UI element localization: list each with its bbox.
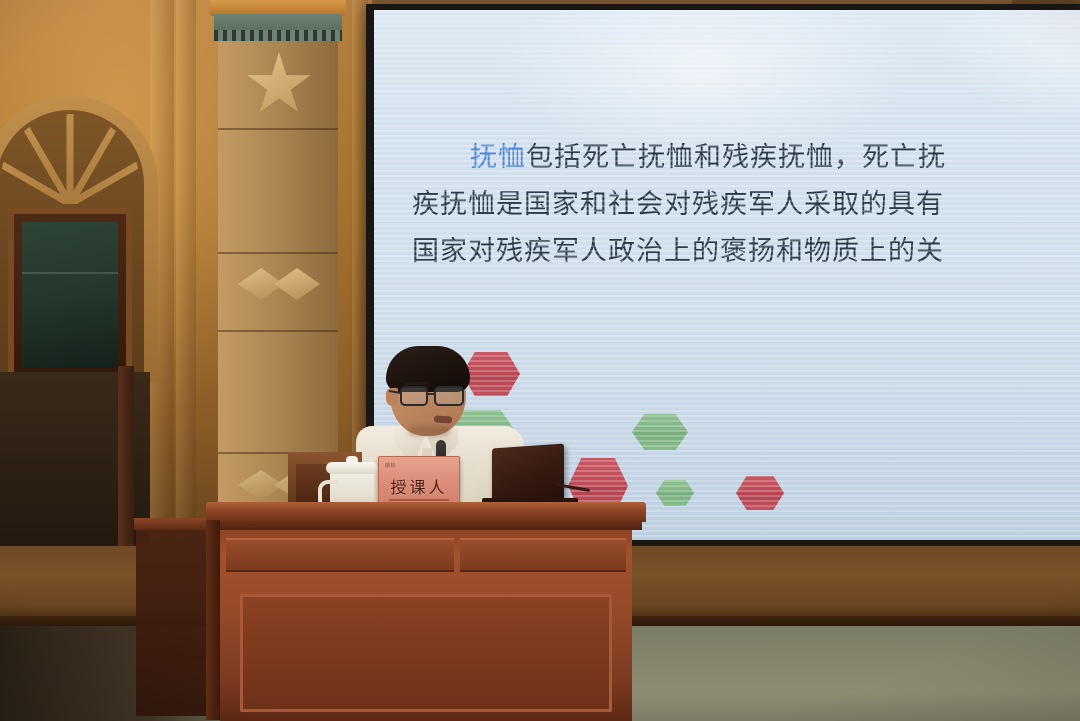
column-dentils	[214, 30, 342, 41]
podium-top	[206, 502, 646, 522]
projector-hotspot	[934, 10, 1080, 130]
podium-side-table	[136, 526, 212, 716]
hexagon-decoration-green	[632, 414, 688, 450]
slide-line-3: 国家对残疾军人政治上的褒扬和物质上的关	[412, 228, 1080, 275]
lens-left	[400, 386, 428, 406]
glasses-bridge	[427, 393, 435, 395]
mouth	[434, 415, 452, 423]
podium-lip	[210, 521, 642, 530]
diamond-ornament-icon	[238, 268, 322, 302]
podium	[206, 502, 646, 721]
slide-highlight-term: 抚恤	[470, 142, 526, 173]
drawer-left	[226, 538, 454, 572]
slide-line-1: 包括死亡抚恤和残疾抚恤，死亡抚	[526, 142, 946, 173]
door-glass	[22, 222, 118, 368]
nameplate-logo: 徽标	[385, 462, 396, 469]
podium-side-top	[134, 518, 214, 530]
drawer-right	[460, 538, 626, 572]
glasses-icon	[400, 386, 470, 408]
slide-text-block: 抚恤包括死亡抚恤和残疾抚恤，死亡抚 疾抚恤是国家和社会对残疾军人采取的具有 国家…	[470, 134, 1080, 275]
slide-line-2: 疾抚恤是国家和社会对残疾军人采取的具有	[412, 181, 1080, 228]
lens-right	[434, 386, 464, 406]
teacup-knob	[346, 456, 358, 465]
podium-drawers	[226, 538, 626, 572]
hexagon-decoration-green	[656, 480, 694, 506]
nameplate-rule	[389, 499, 449, 501]
podium-leg	[206, 520, 220, 720]
chin-shadow	[408, 426, 450, 436]
arched-doorway	[0, 96, 158, 382]
lecture-hall-photo: 抚恤包括死亡抚恤和残疾抚恤，死亡抚 疾抚恤是国家和社会对残疾军人采取的具有 国家…	[0, 0, 1080, 721]
podium-front-panel	[240, 594, 612, 712]
nameplate-text: 授课人	[390, 474, 447, 498]
hexagon-decoration-red	[736, 476, 784, 510]
door-panel	[8, 208, 132, 382]
